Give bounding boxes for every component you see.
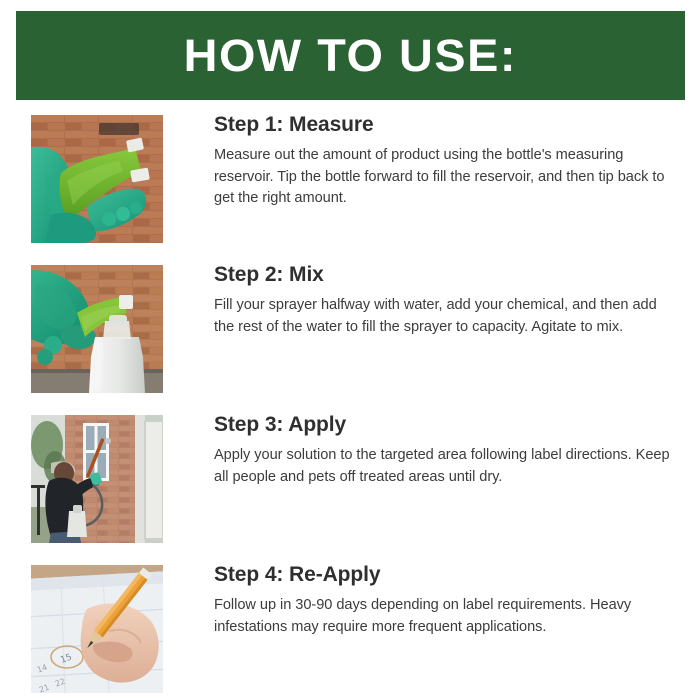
step-2-body: Fill your sprayer halfway with water, ad… [214,295,674,338]
step-4-thumbnail: 15 14 22 21 23 [31,565,163,693]
step-item: Step 2: Mix Fill your sprayer halfway wi… [0,254,700,404]
gloved-hands-holding-green-bottle-photo [31,115,163,243]
step-1-thumbnail [31,115,163,243]
person-spraying-house-exterior-photo [31,415,163,543]
step-1-heading: Step 1: Measure [214,113,674,137]
step-2-text: Step 2: Mix Fill your sprayer halfway wi… [163,254,700,338]
page-title: HOW TO USE: [184,33,517,78]
step-1-text: Step 1: Measure Measure out the amount o… [163,104,700,210]
step-2-heading: Step 2: Mix [214,263,674,287]
step-item: 15 14 22 21 23 [0,554,700,700]
step-2-thumbnail [31,265,163,393]
step-3-text: Step 3: Apply Apply your solution to the… [163,404,700,488]
infographic-page: HOW TO USE: [0,0,700,700]
step-4-heading: Step 4: Re-Apply [214,563,674,587]
step-item: Step 1: Measure Measure out the amount o… [0,104,700,254]
steps-list: Step 1: Measure Measure out the amount o… [0,104,700,700]
step-3-heading: Step 3: Apply [214,413,674,437]
step-3-thumbnail [31,415,163,543]
pouring-chemical-into-sprayer-photo [31,265,163,393]
step-3-body: Apply your solution to the targeted area… [214,445,674,488]
step-item: Step 3: Apply Apply your solution to the… [0,404,700,554]
header-banner: HOW TO USE: [16,11,685,100]
step-4-body: Follow up in 30-90 days depending on lab… [214,595,674,638]
step-4-text: Step 4: Re-Apply Follow up in 30-90 days… [163,554,700,638]
hand-circling-calendar-date-photo: 15 14 22 21 23 [31,565,163,693]
step-1-body: Measure out the amount of product using … [214,145,674,210]
